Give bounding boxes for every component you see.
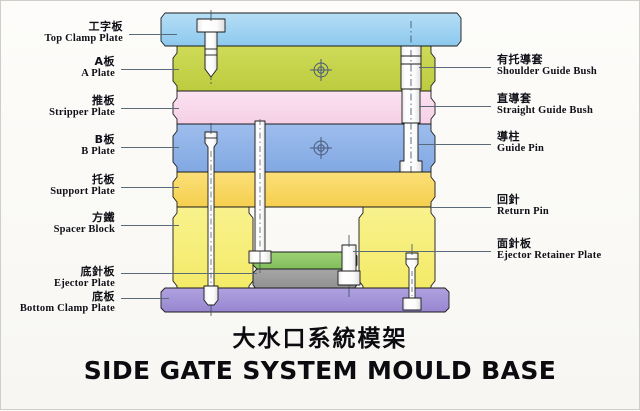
label-cn: 有托導套 (497, 54, 640, 66)
diagram-title: 大水口系統模架 SIDE GATE SYSTEM MOULD BASE (1, 319, 639, 385)
label-guide-pin: 導柱 Guide Pin (497, 131, 640, 154)
diagram-page: 工字板 Top Clamp Plate A板 A Plate 推板 Stripp… (0, 0, 640, 410)
label-en: Spacer Block (1, 224, 115, 235)
label-bottom-clamp-plate: 底板 Bottom Clamp Plate (1, 291, 115, 314)
label-en: Top Clamp Plate (1, 33, 123, 44)
label-straight-guide-bush: 直導套 Straight Guide Bush (497, 93, 640, 116)
leader-line (353, 251, 491, 252)
label-en: Ejector Plate (1, 278, 115, 289)
label-cn: 直導套 (497, 93, 640, 105)
leader-line (419, 144, 491, 145)
label-en: Ejector Retainer Plate (497, 250, 640, 261)
leader-line (121, 69, 179, 70)
leader-line (121, 273, 257, 274)
label-b-plate: B板 B Plate (1, 134, 115, 157)
label-stripper-plate: 推板 Stripper Plate (1, 95, 115, 118)
label-en: B Plate (1, 146, 115, 157)
leader-line (121, 187, 179, 188)
leader-line (121, 108, 179, 109)
label-a-plate: A板 A Plate (1, 56, 115, 79)
leader-line (121, 225, 179, 226)
plate-stripper (173, 91, 435, 124)
label-en: A Plate (1, 68, 115, 79)
label-en: Guide Pin (497, 143, 640, 154)
label-cn: 底板 (1, 291, 115, 303)
label-cn: 面針板 (497, 238, 640, 250)
leader-line (431, 207, 491, 208)
label-cn: 底針板 (1, 266, 115, 278)
leader-line (121, 298, 169, 299)
label-cn: 方鐵 (1, 212, 115, 224)
title-chinese: 大水口系統模架 (1, 319, 639, 353)
label-return-pin: 回針 Return Pin (497, 194, 640, 217)
label-cn: A板 (1, 56, 115, 68)
label-en: Stripper Plate (1, 107, 115, 118)
label-cn: 導柱 (497, 131, 640, 143)
label-en: Shoulder Guide Bush (497, 66, 640, 77)
label-en: Straight Guide Bush (497, 105, 640, 116)
label-cn: 工字板 (1, 21, 123, 33)
label-ejector-retainer-plate: 面針板 Ejector Retainer Plate (497, 238, 640, 261)
label-cn: 托板 (1, 174, 115, 186)
label-en: Support Plate (1, 186, 115, 197)
leader-line (129, 34, 177, 35)
title-english: SIDE GATE SYSTEM MOULD BASE (1, 356, 639, 385)
label-en: Return Pin (497, 206, 640, 217)
label-cn: 推板 (1, 95, 115, 107)
label-ejector-plate: 底針板 Ejector Plate (1, 266, 115, 289)
label-spacer-block: 方鐵 Spacer Block (1, 212, 115, 235)
leader-line (121, 147, 179, 148)
leader-line (419, 106, 491, 107)
leader-line (419, 67, 491, 68)
label-shoulder-guide-bush: 有托導套 Shoulder Guide Bush (497, 54, 640, 77)
label-support-plate: 托板 Support Plate (1, 174, 115, 197)
label-cn: B板 (1, 134, 115, 146)
label-cn: 回針 (497, 194, 640, 206)
label-en: Bottom Clamp Plate (1, 303, 115, 314)
spacer-block-right (359, 207, 435, 292)
label-top-clamp-plate: 工字板 Top Clamp Plate (1, 21, 123, 44)
